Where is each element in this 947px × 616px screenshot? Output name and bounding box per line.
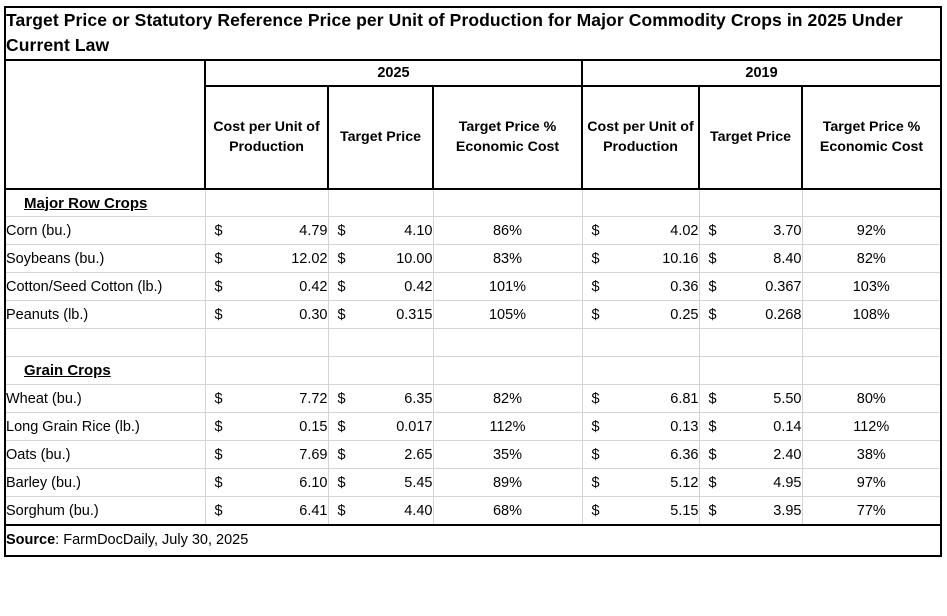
- currency-symbol: $: [592, 391, 600, 407]
- cell-2025-target: $0.315: [328, 301, 433, 329]
- currency-symbol: $: [338, 503, 346, 519]
- cell-2025-pct: 35%: [433, 441, 582, 469]
- currency-symbol: $: [215, 223, 223, 239]
- cell-2019-cost: $0.13: [582, 413, 699, 441]
- currency-symbol: $: [709, 503, 717, 519]
- cell-2019-target: [699, 357, 802, 385]
- row-label: Peanuts (lb.): [6, 301, 205, 329]
- group-heading-grain-crops: Grain Crops: [6, 362, 111, 379]
- currency-symbol: $: [215, 447, 223, 463]
- year-group-2019: 2019: [582, 60, 940, 86]
- cell-2025-target: $2.65: [328, 441, 433, 469]
- table-row: Wheat (bu.) $7.72 $6.35 82% $6.81 $5.50 …: [6, 385, 940, 413]
- cell-2019-target: $0.367: [699, 273, 802, 301]
- column-header-row: Cost per Unit of Production Target Price…: [6, 86, 940, 189]
- col-header-2025-target-price: Target Price: [328, 86, 433, 189]
- currency-symbol: $: [215, 307, 223, 323]
- currency-symbol: $: [709, 391, 717, 407]
- cell-2025-target: $4.10: [328, 217, 433, 245]
- currency-symbol: $: [709, 419, 717, 435]
- cell-2025-target: $6.35: [328, 385, 433, 413]
- cell-2025-target: $5.45: [328, 469, 433, 497]
- cell-2025-pct: 89%: [433, 469, 582, 497]
- cell-2025-target: $0.42: [328, 273, 433, 301]
- cell-2025-target: $10.00: [328, 245, 433, 273]
- cell-2019-pct: 112%: [802, 413, 940, 441]
- page-title: Target Price or Statutory Reference Pric…: [6, 8, 940, 59]
- cell-2019-target: $0.14: [699, 413, 802, 441]
- cell-2019-pct: 108%: [802, 301, 940, 329]
- source-row: Source: FarmDocDaily, July 30, 2025: [6, 525, 940, 555]
- currency-symbol: $: [592, 503, 600, 519]
- cell-2025-cost: $7.69: [205, 441, 328, 469]
- currency-symbol: $: [215, 279, 223, 295]
- cell-2025-pct: [433, 189, 582, 217]
- year-group-header-row: 2025 2019: [6, 60, 940, 86]
- cell-2025-target: $0.017: [328, 413, 433, 441]
- cell-2025-pct: 83%: [433, 245, 582, 273]
- cell-2019-pct: 77%: [802, 497, 940, 525]
- cell-2025-target: $4.40: [328, 497, 433, 525]
- cell-2025-cost: $4.79: [205, 217, 328, 245]
- currency-symbol: $: [709, 307, 717, 323]
- currency-symbol: $: [338, 307, 346, 323]
- col-header-2019-target-price-pct: Target Price % Economic Cost: [802, 86, 940, 189]
- source-text: FarmDocDaily, July 30, 2025: [63, 532, 248, 548]
- currency-symbol: $: [215, 419, 223, 435]
- cell-2019-pct: 38%: [802, 441, 940, 469]
- currency-symbol: $: [338, 447, 346, 463]
- table-row: Cotton/Seed Cotton (lb.) $0.42 $0.42 101…: [6, 273, 940, 301]
- cell-2025-target: [328, 357, 433, 385]
- cell-2025-pct: 105%: [433, 301, 582, 329]
- row-label: Soybeans (bu.): [6, 245, 205, 273]
- table-row: Long Grain Rice (lb.) $0.15 $0.017 112% …: [6, 413, 940, 441]
- year-row-corner-cell: [6, 60, 205, 86]
- currency-symbol: $: [338, 475, 346, 491]
- col-header-2019-cost-per-unit: Cost per Unit of Production: [582, 86, 699, 189]
- table-row: Major Row Crops: [6, 189, 940, 217]
- cell-2019-cost: $4.02: [582, 217, 699, 245]
- cell-2019-cost: $10.16: [582, 245, 699, 273]
- currency-symbol: $: [215, 475, 223, 491]
- cell-2025-cost: $7.72: [205, 385, 328, 413]
- row-label: Wheat (bu.): [6, 385, 205, 413]
- cell-2025-cost: [205, 189, 328, 217]
- row-label: Grain Crops: [6, 357, 205, 385]
- table-row: Soybeans (bu.) $12.02 $10.00 83% $10.16 …: [6, 245, 940, 273]
- cell-2019-cost: [582, 189, 699, 217]
- col-header-2019-target-price: Target Price: [699, 86, 802, 189]
- currency-symbol: $: [709, 251, 717, 267]
- row-label: Major Row Crops: [6, 189, 205, 217]
- cell-2025-pct: 86%: [433, 217, 582, 245]
- cell-2019-target: [699, 189, 802, 217]
- currency-symbol: $: [215, 391, 223, 407]
- cell-2019-pct: 92%: [802, 217, 940, 245]
- cell-2019-pct: 97%: [802, 469, 940, 497]
- cell-2025-pct: [433, 329, 582, 357]
- cell-2025-pct: 68%: [433, 497, 582, 525]
- cell-2025-pct: [433, 357, 582, 385]
- cell-2019-target: $4.95: [699, 469, 802, 497]
- group-heading-major-row-crops: Major Row Crops: [6, 195, 147, 212]
- currency-symbol: $: [215, 251, 223, 267]
- currency-symbol: $: [215, 503, 223, 519]
- currency-symbol: $: [592, 279, 600, 295]
- year-group-2025: 2025: [205, 60, 582, 86]
- cell-2025-cost: $6.41: [205, 497, 328, 525]
- cell-2019-target: $2.40: [699, 441, 802, 469]
- title-row: Target Price or Statutory Reference Pric…: [6, 8, 940, 60]
- cell-2019-pct: 103%: [802, 273, 940, 301]
- table-row: Oats (bu.) $7.69 $2.65 35% $6.36 $2.40 3…: [6, 441, 940, 469]
- cell-2025-target: [328, 329, 433, 357]
- cell-2025-pct: 112%: [433, 413, 582, 441]
- cell-2025-cost: [205, 357, 328, 385]
- cell-2025-pct: 82%: [433, 385, 582, 413]
- currency-symbol: $: [338, 279, 346, 295]
- source-cell: Source: FarmDocDaily, July 30, 2025: [6, 525, 940, 555]
- cell-2019-cost: $6.36: [582, 441, 699, 469]
- col-header-2025-cost-per-unit: Cost per Unit of Production: [205, 86, 328, 189]
- row-label: Cotton/Seed Cotton (lb.): [6, 273, 205, 301]
- cell-2025-pct: 101%: [433, 273, 582, 301]
- cell-2025-cost: $0.15: [205, 413, 328, 441]
- cell-2025-cost: [205, 329, 328, 357]
- row-label: Sorghum (bu.): [6, 497, 205, 525]
- cell-2025-cost: $0.42: [205, 273, 328, 301]
- cell-2019-pct: 80%: [802, 385, 940, 413]
- currency-symbol: $: [592, 251, 600, 267]
- col-header-2025-target-price-pct: Target Price % Economic Cost: [433, 86, 582, 189]
- table-title-cell: Target Price or Statutory Reference Pric…: [6, 8, 940, 60]
- cell-2019-pct: [802, 357, 940, 385]
- cell-2019-target: [699, 329, 802, 357]
- row-label: Corn (bu.): [6, 217, 205, 245]
- currency-symbol: $: [709, 279, 717, 295]
- cell-2019-pct: [802, 189, 940, 217]
- cell-2019-target: $3.95: [699, 497, 802, 525]
- cell-2025-target: [328, 189, 433, 217]
- cell-2019-pct: [802, 329, 940, 357]
- cell-2019-cost: $5.12: [582, 469, 699, 497]
- cell-2019-target: $5.50: [699, 385, 802, 413]
- page-root: Target Price or Statutory Reference Pric…: [0, 0, 947, 616]
- cell-2025-cost: $0.30: [205, 301, 328, 329]
- cell-2019-target: $8.40: [699, 245, 802, 273]
- currency-symbol: $: [338, 391, 346, 407]
- table-row: Barley (bu.) $6.10 $5.45 89% $5.12 $4.95…: [6, 469, 940, 497]
- table-row-spacer: [6, 329, 940, 357]
- table-row: Sorghum (bu.) $6.41 $4.40 68% $5.15 $3.9…: [6, 497, 940, 525]
- cell-2019-cost: $6.81: [582, 385, 699, 413]
- table-row: Peanuts (lb.) $0.30 $0.315 105% $0.25 $0…: [6, 301, 940, 329]
- commodity-price-table-container: Target Price or Statutory Reference Pric…: [4, 6, 942, 557]
- currency-symbol: $: [338, 251, 346, 267]
- row-label: [6, 329, 205, 357]
- commodity-price-table: Target Price or Statutory Reference Pric…: [6, 8, 940, 555]
- currency-symbol: $: [592, 223, 600, 239]
- cell-2019-target: $3.70: [699, 217, 802, 245]
- currency-symbol: $: [338, 419, 346, 435]
- source-label: Source: [6, 532, 55, 548]
- currency-symbol: $: [592, 475, 600, 491]
- row-label: Oats (bu.): [6, 441, 205, 469]
- currency-symbol: $: [592, 447, 600, 463]
- cell-2025-cost: $12.02: [205, 245, 328, 273]
- cell-2019-cost: $5.15: [582, 497, 699, 525]
- currency-symbol: $: [709, 475, 717, 491]
- row-label: Long Grain Rice (lb.): [6, 413, 205, 441]
- table-row: Corn (bu.) $4.79 $4.10 86% $4.02 $3.70 9…: [6, 217, 940, 245]
- cell-2019-cost: [582, 357, 699, 385]
- currency-symbol: $: [338, 223, 346, 239]
- row-label: Barley (bu.): [6, 469, 205, 497]
- table-row: Grain Crops: [6, 357, 940, 385]
- cell-2019-cost: [582, 329, 699, 357]
- column-header-corner-cell: [6, 86, 205, 189]
- cell-2019-target: $0.268: [699, 301, 802, 329]
- cell-2019-pct: 82%: [802, 245, 940, 273]
- cell-2025-cost: $6.10: [205, 469, 328, 497]
- cell-2019-cost: $0.36: [582, 273, 699, 301]
- currency-symbol: $: [709, 223, 717, 239]
- currency-symbol: $: [592, 307, 600, 323]
- cell-2019-cost: $0.25: [582, 301, 699, 329]
- currency-symbol: $: [709, 447, 717, 463]
- currency-symbol: $: [592, 419, 600, 435]
